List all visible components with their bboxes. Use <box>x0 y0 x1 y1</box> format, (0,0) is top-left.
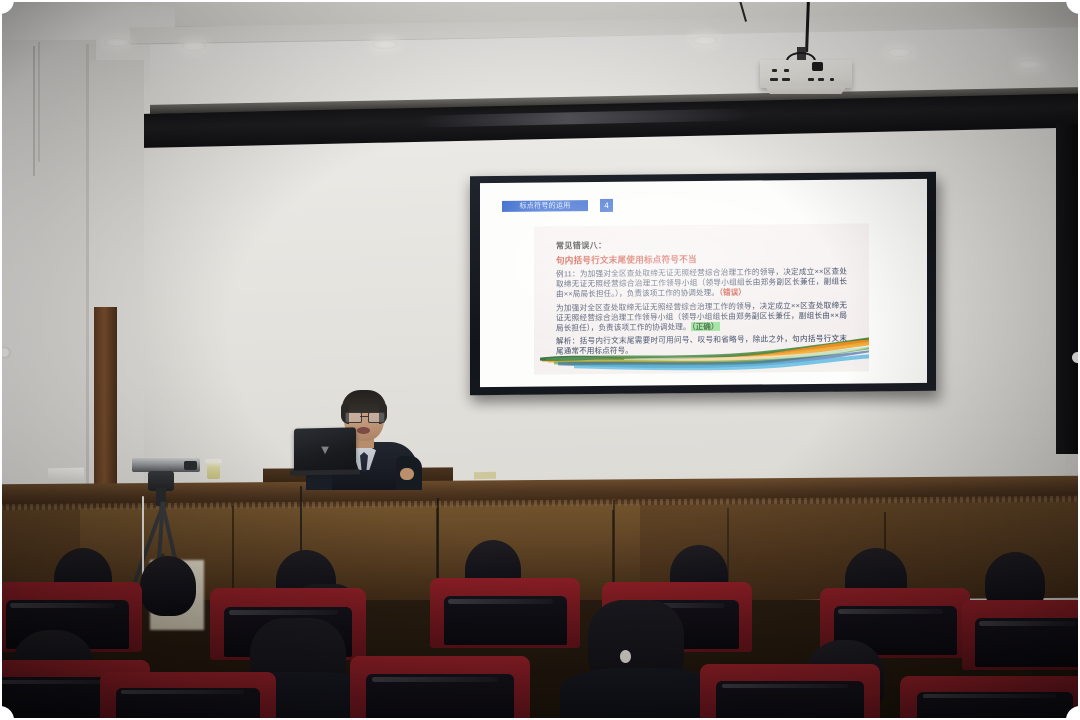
glasses-bridge <box>360 416 368 417</box>
seat-highlight <box>923 694 1056 698</box>
projector-vent <box>784 69 789 72</box>
slide-number-badge: 4 <box>600 199 613 212</box>
wall-fixture-icon <box>1072 352 1080 363</box>
seat-highlight <box>121 690 244 694</box>
ceiling-projector-icon <box>760 60 852 88</box>
projector-vent <box>770 78 778 81</box>
presenter-hand <box>400 468 414 480</box>
seat-highlight <box>722 684 848 689</box>
projector-vent <box>808 78 814 81</box>
seat-highlight <box>229 610 338 615</box>
projector-lens-icon <box>812 62 823 71</box>
slide-swoosh-graphic <box>534 337 869 374</box>
desk-paper <box>474 472 496 479</box>
ceiling-downlight <box>1016 60 1042 69</box>
auditorium-seat[interactable] <box>700 664 880 720</box>
auditorium-seat[interactable] <box>430 578 580 648</box>
ceiling-downlight <box>104 38 130 47</box>
auditorium-seat[interactable] <box>900 676 1080 720</box>
slide-subheading: 句内括号行文末尾使用标点符号不当 <box>556 251 869 266</box>
eyeglasses-icon <box>345 412 383 421</box>
slide-paragraph-1-text: 例11：为加强对全区查处取缔无证无照经营综合治理工作的领导，决定成立××区查处取… <box>556 267 847 299</box>
presenter-mouth <box>357 427 370 434</box>
seat-highlight <box>448 599 553 604</box>
presented-slide: 标点符号的运用 4 常见错误八： 句内括号行文末尾使用标点符号不当 例11：为加… <box>480 179 927 387</box>
laptop-logo-icon: ▼ <box>315 444 335 456</box>
swoosh-ribbon-icon <box>534 337 869 374</box>
wall-seam <box>33 46 35 176</box>
hanging-cable <box>613 500 615 595</box>
projector-vent <box>830 78 834 81</box>
auditorium-seat[interactable] <box>100 672 276 720</box>
wall-fixture-icon <box>0 348 9 357</box>
paper-stack <box>48 468 84 481</box>
glasses-lens <box>368 412 385 423</box>
slide-marker-wrong: （错误） <box>719 288 746 297</box>
side-door[interactable] <box>94 307 117 507</box>
screenshot-root: 标点符号的运用 4 常见错误八： 句内括号行文末尾使用标点符号不当 例11：为加… <box>0 0 1080 720</box>
seat-highlight <box>838 609 943 614</box>
seat-highlight <box>372 677 498 682</box>
audience-shoulders <box>560 668 720 720</box>
wall-frame-right <box>1056 124 1080 454</box>
projector-vent <box>782 78 790 81</box>
slide-paragraph-correction: 为加强对全区查处取缔无证无照经营综合治理工作的领导，决定成立××区查处取缔无证无… <box>556 300 847 333</box>
seat-highlight <box>979 621 1077 626</box>
seat-highlight <box>10 603 115 608</box>
ceiling-downlight <box>181 42 207 51</box>
audience-head <box>140 556 196 616</box>
auditorium-seat[interactable] <box>962 600 1080 670</box>
hair-tie <box>620 650 631 663</box>
slide-header-tag: 标点符号的运用 <box>502 200 588 212</box>
projector-vent <box>772 69 777 72</box>
projector-base <box>765 86 847 94</box>
ceiling-downlight <box>692 36 718 45</box>
glasses-lens <box>345 412 362 423</box>
slide-marker-right: （正确） <box>691 322 720 331</box>
ceiling-downlight <box>372 40 398 49</box>
ceiling-downlight <box>886 48 912 57</box>
wall-seam <box>38 42 40 162</box>
lecture-hall-room: 标点符号的运用 4 常见错误八： 句内括号行文末尾使用标点符号不当 例11：为加… <box>0 0 1080 720</box>
slide-paragraph-example: 例11：为加强对全区查处取缔无证无照经营综合治理工作的领导，决定成立××区查处取… <box>556 267 847 300</box>
projector-vent <box>818 78 824 81</box>
slide-heading: 常见错误八： <box>556 237 869 251</box>
auditorium-seat[interactable] <box>350 656 530 720</box>
camera-lens-icon <box>184 461 197 470</box>
